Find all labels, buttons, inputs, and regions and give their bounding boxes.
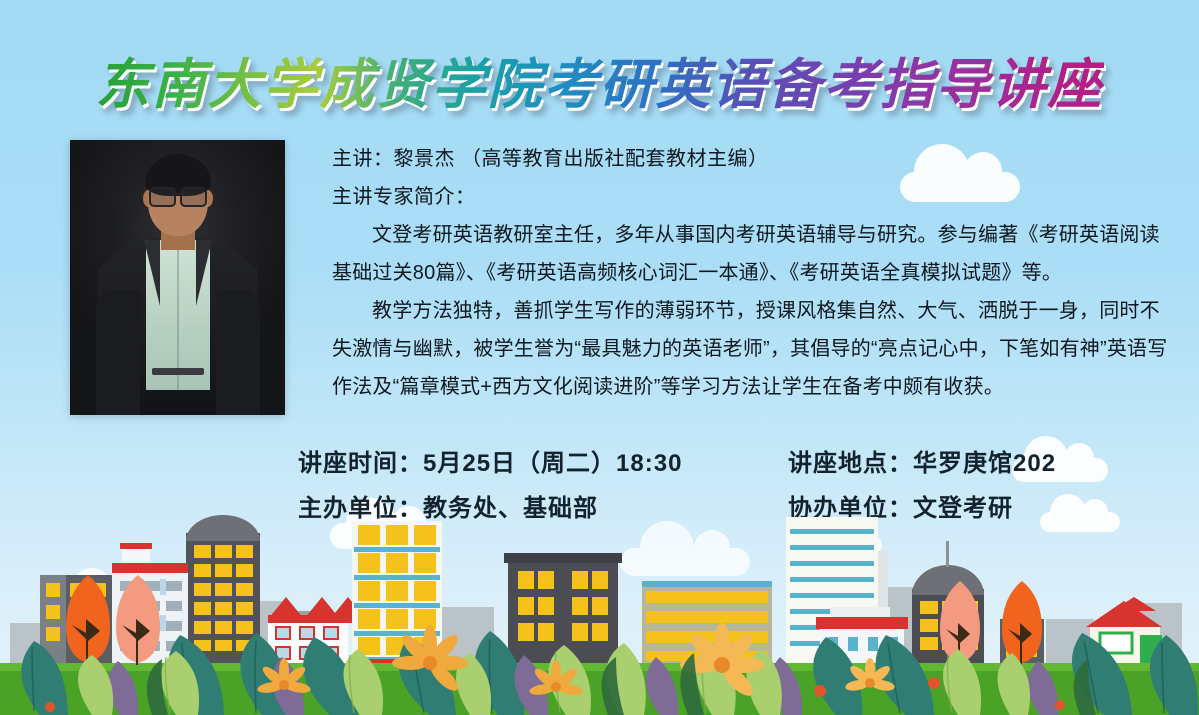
title-block: 东南大学成贤学院考研英语备考指导讲座: [0, 40, 1199, 119]
speaker-photo: [70, 140, 285, 415]
event-info-row: 讲座时间：5月25日（周二）18:30 讲座地点：华罗庚馆202: [298, 443, 1178, 478]
photo-arm-left: [96, 290, 140, 415]
speaker-lead-line: 主讲：黎景杰 （高等教育出版社配套教材主编）: [332, 140, 1174, 178]
speaker-intro-label: 主讲专家简介：: [332, 178, 1174, 216]
lecture-time-value: 5月25日（周二）18:30: [423, 450, 682, 477]
photo-lapel-right: [196, 240, 212, 306]
poster-title: 东南大学成贤学院考研英语备考指导讲座: [96, 40, 1104, 119]
lecture-place-label: 讲座地点：: [788, 450, 913, 477]
photo-lapel-left: [144, 240, 160, 306]
lecture-place: 讲座地点：华罗庚馆202: [788, 443, 1056, 478]
photo-arm-right: [216, 290, 260, 415]
speaker-text-block: 主讲：黎景杰 （高等教育出版社配套教材主编） 主讲专家简介： 文登考研英语教研室…: [332, 140, 1174, 406]
speaker-paragraph: 教学方法独特，善抓学生写作的薄弱环节，授课风格集自然、大气、洒脱于一身，同时不失…: [332, 292, 1174, 406]
cityscape-icon: [0, 515, 1199, 715]
lecture-time: 讲座时间：5月25日（周二）18:30: [298, 443, 788, 478]
speaker-paragraph: 文登考研英语教研室主任，多年从事国内考研英语辅导与研究。参与编著《考研英语阅读基…: [332, 216, 1174, 292]
poster-canvas: 东南大学成贤学院考研英语备考指导讲座 主讲：黎景杰 （高等教育出版社配套教材主编…: [0, 0, 1199, 715]
glasses-icon: [149, 187, 207, 204]
lecture-time-label: 讲座时间：: [298, 450, 423, 477]
cityscape-svg: [0, 515, 1199, 715]
photo-belt: [152, 368, 204, 375]
lecture-place-value: 华罗庚馆202: [913, 450, 1056, 477]
